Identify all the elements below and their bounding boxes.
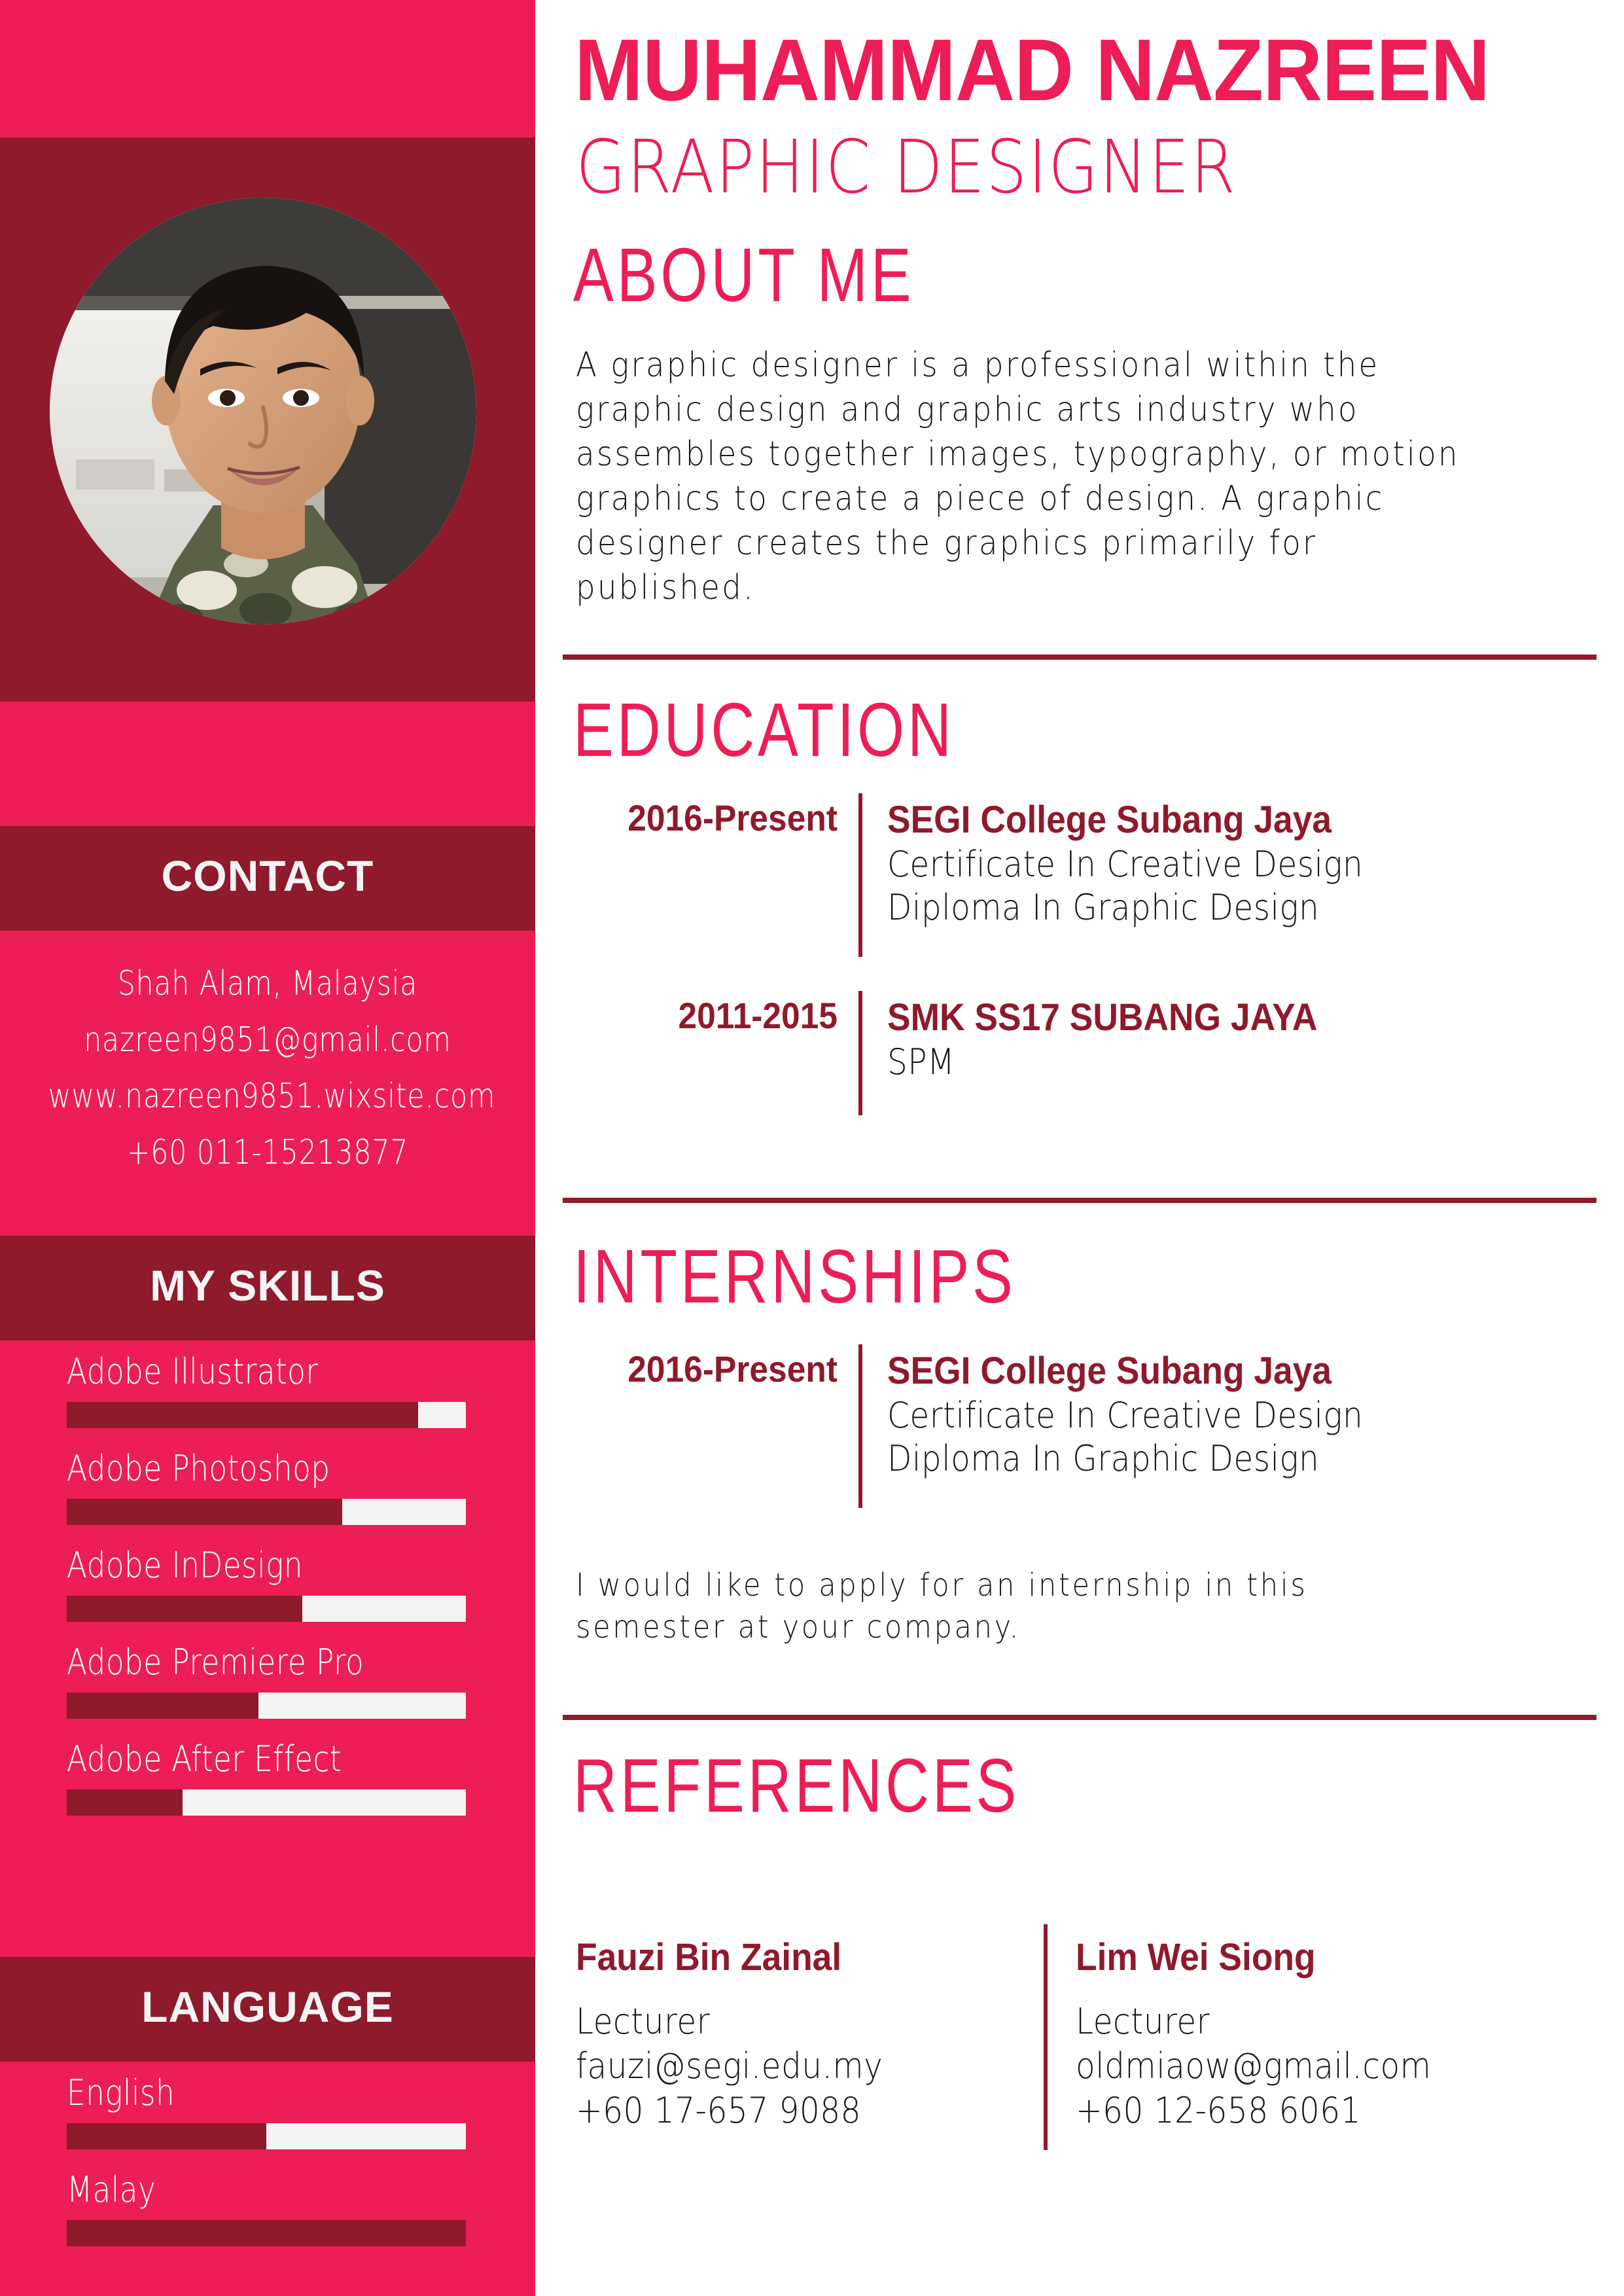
job-title: GRAPHIC DESIGNER [576, 128, 1237, 207]
skill-label: Adobe InDesign [67, 1545, 303, 1586]
entry-line: SPM [887, 1041, 1308, 1084]
entry-organization: SEGI College Subang Jaya [887, 1348, 1373, 1394]
entry-divider [858, 991, 862, 1115]
entry-body: SEGI College Subang Jaya Certificate In … [887, 797, 1416, 929]
skill-fill [67, 1499, 342, 1525]
sidebar: CONTACT Shah Alam, Malaysia nazreen9851@… [0, 0, 535, 2296]
entry-line: Diploma In Graphic Design [887, 1437, 1363, 1480]
entry-date: 2011-2015 [597, 995, 838, 1037]
reference-phone[interactable]: +60 12-658 6061 [1076, 2089, 1431, 2133]
skill-fill [67, 1693, 258, 1719]
avatar [50, 198, 476, 624]
entry-line: Certificate In Creative Design [887, 843, 1363, 886]
contact-list: Shah Alam, Malaysia nazreen9851@gmail.co… [0, 956, 535, 1181]
reference-phone[interactable]: +60 17-657 9088 [576, 2089, 883, 2133]
entry-organization: SMK SS17 SUBANG JAYA [887, 995, 1317, 1041]
skill-fill [67, 1402, 418, 1428]
contact-title: CONTACT [0, 851, 535, 901]
language-track [67, 2123, 466, 2149]
profile-photo-illustration [50, 198, 476, 624]
contact-email[interactable]: nazreen9851@gmail.com [48, 1012, 487, 1068]
about-section-title: ABOUT ME [573, 236, 914, 314]
internship-note: I would like to apply for an internship … [576, 1564, 1430, 1648]
skill-fill [67, 1596, 302, 1622]
skill-label: Adobe Photoshop [67, 1448, 330, 1489]
skill-fill [67, 1789, 183, 1816]
skill-track [67, 1499, 466, 1525]
about-text: A graphic designer is a professional wit… [576, 343, 1477, 610]
reference-name: Fauzi Bin Zainal [576, 1934, 890, 1981]
contact-phone[interactable]: +60 011-15213877 [48, 1124, 487, 1181]
entry-line: Diploma In Graphic Design [887, 886, 1363, 929]
reference-card: Lim Wei Siong Lecturer oldmiaow@gmail.co… [1076, 1934, 1471, 2133]
skills-title: MY SKILLS [0, 1261, 535, 1310]
entry-body: SEGI College Subang Jaya Certificate In … [887, 1348, 1416, 1480]
language-fill [67, 2220, 466, 2246]
contact-website[interactable]: www.nazreen9851.wixsite.com [48, 1068, 487, 1124]
skill-track [67, 1693, 466, 1719]
skill-track [67, 1402, 466, 1428]
entry-date: 2016-Present [597, 797, 838, 839]
skill-label: Adobe After Effect [67, 1738, 342, 1780]
reference-card: Fauzi Bin Zainal Lecturer fauzi@segi.edu… [576, 1934, 917, 2133]
reference-role: Lecturer [1076, 2000, 1431, 2044]
reference-email[interactable]: fauzi@segi.edu.my [576, 2044, 883, 2089]
divider [563, 1198, 1597, 1203]
page-title: MUHAMMAD NAZREEN [574, 25, 1489, 117]
reference-role: Lecturer [576, 2000, 883, 2044]
internships-section-title: INTERNSHIPS [573, 1237, 1016, 1316]
language-label: English [67, 2072, 175, 2113]
language-title: LANGUAGE [0, 1982, 535, 2032]
entry-line: Certificate In Creative Design [887, 1394, 1363, 1437]
language-track [67, 2220, 466, 2246]
divider [563, 655, 1597, 660]
main-column: MUHAMMAD NAZREEN GRAPHIC DESIGNER ABOUT … [535, 0, 1624, 2296]
references-divider [1044, 1924, 1048, 2150]
education-section-title: EDUCATION [573, 691, 955, 769]
reference-name: Lim Wei Siong [1076, 1934, 1439, 1981]
divider [563, 1715, 1597, 1720]
entry-divider [858, 1344, 862, 1508]
entry-divider [858, 793, 862, 957]
reference-email[interactable]: oldmiaow@gmail.com [1076, 2044, 1431, 2089]
skill-label: Adobe Illustrator [67, 1351, 318, 1392]
contact-location: Shah Alam, Malaysia [48, 956, 487, 1012]
language-label: Malay [67, 2169, 156, 2210]
entry-organization: SEGI College Subang Jaya [887, 797, 1373, 843]
skill-label: Adobe Premiere Pro [67, 1641, 364, 1683]
language-fill [67, 2123, 266, 2149]
entry-body: SMK SS17 SUBANG JAYA SPM [887, 995, 1355, 1084]
entry-date: 2016-Present [597, 1348, 838, 1390]
skill-track [67, 1789, 466, 1816]
references-section-title: REFERENCES [573, 1746, 1019, 1825]
skill-track [67, 1596, 466, 1622]
